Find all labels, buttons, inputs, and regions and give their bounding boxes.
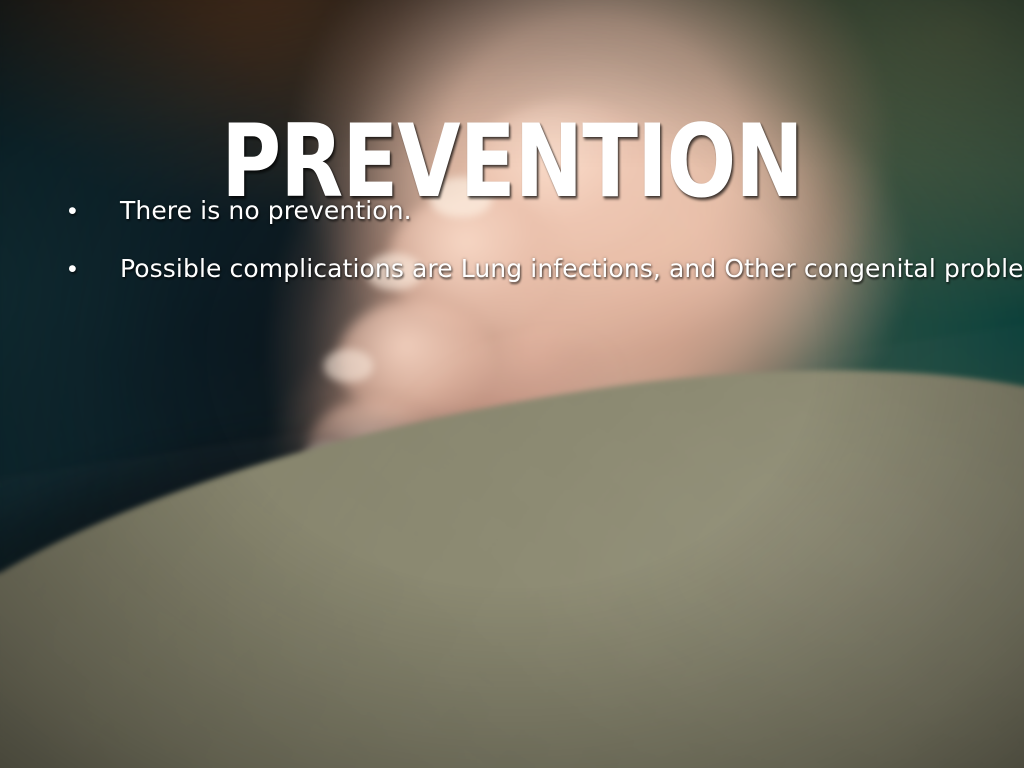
- bullet-text-2: Possible complications are Lung infectio…: [120, 254, 1024, 284]
- list-item: • Possible complications are Lung infect…: [62, 254, 984, 284]
- bullet-point-icon: •: [62, 254, 120, 284]
- bullet-point-icon: •: [62, 196, 120, 226]
- list-item: • There is no prevention.: [62, 196, 984, 226]
- presentation-slide: PREVENTION • There is no prevention. • P…: [0, 0, 1024, 768]
- slide-content: PREVENTION • There is no prevention. • P…: [0, 0, 1024, 768]
- bullet-list: • There is no prevention. • Possible com…: [62, 196, 984, 284]
- bullet-text-1: There is no prevention.: [120, 196, 984, 226]
